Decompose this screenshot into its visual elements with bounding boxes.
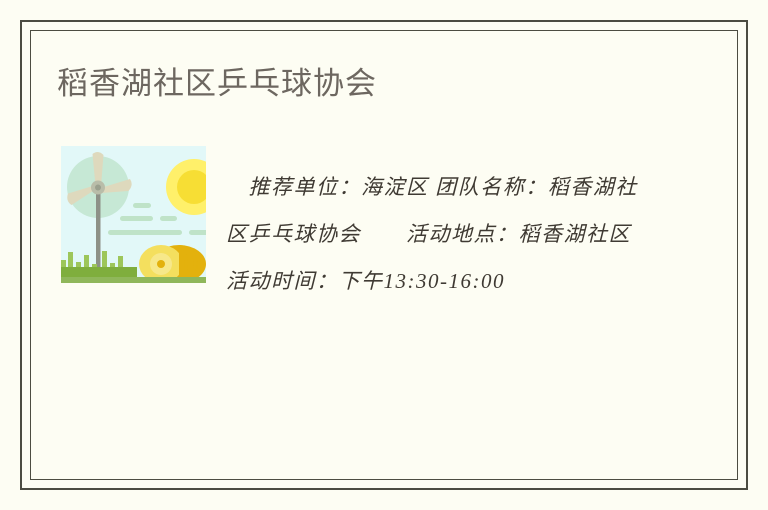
page-title: 稻香湖社区乒乓球协会 <box>57 61 377 107</box>
activity-details-text: 推荐单位：海淀区 团队名称：稻香湖社区乒乓球协会 活动地点：稻香湖社区 活动时间… <box>226 164 646 305</box>
certificate-card: 稻香湖社区乒乓球协会 <box>0 0 768 510</box>
wind-turbine-illustration <box>61 146 206 291</box>
